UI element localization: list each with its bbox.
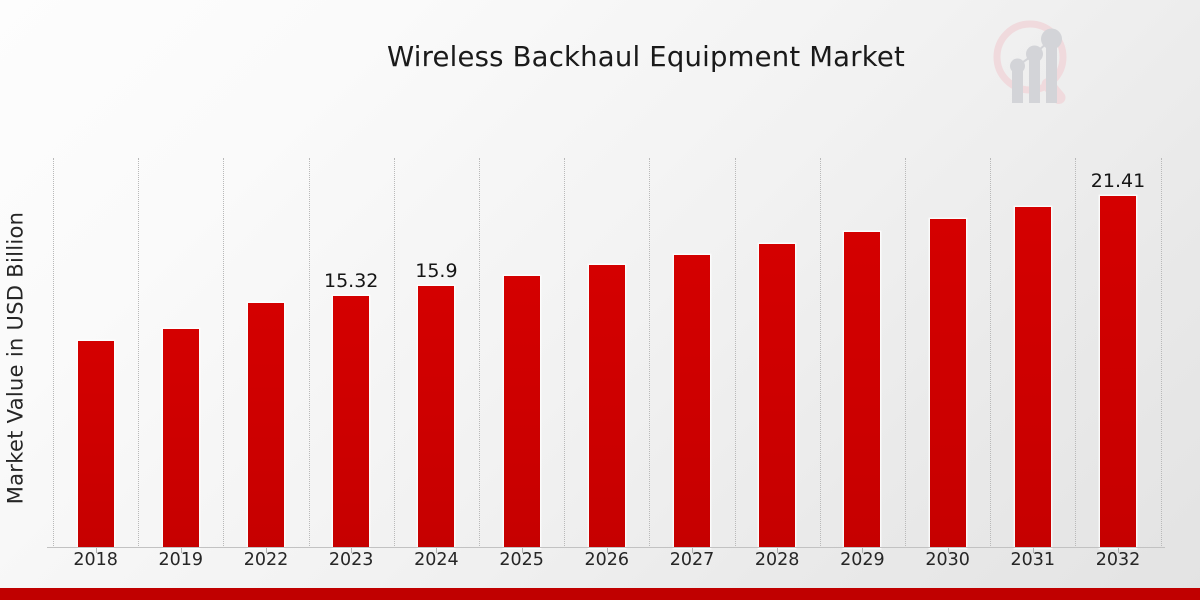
bar-2018[interactable] <box>78 341 114 548</box>
footer-accent-band <box>0 588 1200 600</box>
bar-value-label-2024: 15.9 <box>376 260 496 282</box>
bar-2024[interactable] <box>418 286 454 548</box>
bar-value-label-2032: 21.41 <box>1058 170 1178 192</box>
y-axis-title: Market Value in USD Billion <box>0 168 30 548</box>
magnifying-glass-bar-chart-logo-icon <box>988 16 1084 112</box>
gridline <box>649 158 650 548</box>
gridline <box>735 158 736 548</box>
gridline <box>479 158 480 548</box>
bar-2022[interactable] <box>248 303 284 548</box>
gridline <box>53 158 54 548</box>
x-tick-label-2032: 2032 <box>1058 550 1178 570</box>
bar-2030[interactable] <box>930 219 966 548</box>
gridline <box>564 158 565 548</box>
gridline <box>394 158 395 548</box>
y-axis-title-text: Market Value in USD Billion <box>3 212 27 505</box>
bar-2032[interactable] <box>1100 196 1136 548</box>
bar-2031[interactable] <box>1015 207 1051 548</box>
gridline <box>1075 158 1076 548</box>
bar-2019[interactable] <box>163 329 199 548</box>
bar-2023[interactable] <box>333 296 369 548</box>
gridline <box>1161 158 1162 548</box>
bar-2025[interactable] <box>504 276 540 548</box>
chart-figure: Wireless Backhaul Equipment Market Marke… <box>0 0 1200 600</box>
bar-2028[interactable] <box>759 244 795 548</box>
plot-area <box>53 158 1158 548</box>
gridline <box>820 158 821 548</box>
bar-2027[interactable] <box>674 255 710 548</box>
gridline <box>223 158 224 548</box>
bar-2026[interactable] <box>589 265 625 548</box>
gridline <box>309 158 310 548</box>
gridline <box>905 158 906 548</box>
gridline <box>138 158 139 548</box>
bar-2029[interactable] <box>844 232 880 548</box>
gridline <box>990 158 991 548</box>
